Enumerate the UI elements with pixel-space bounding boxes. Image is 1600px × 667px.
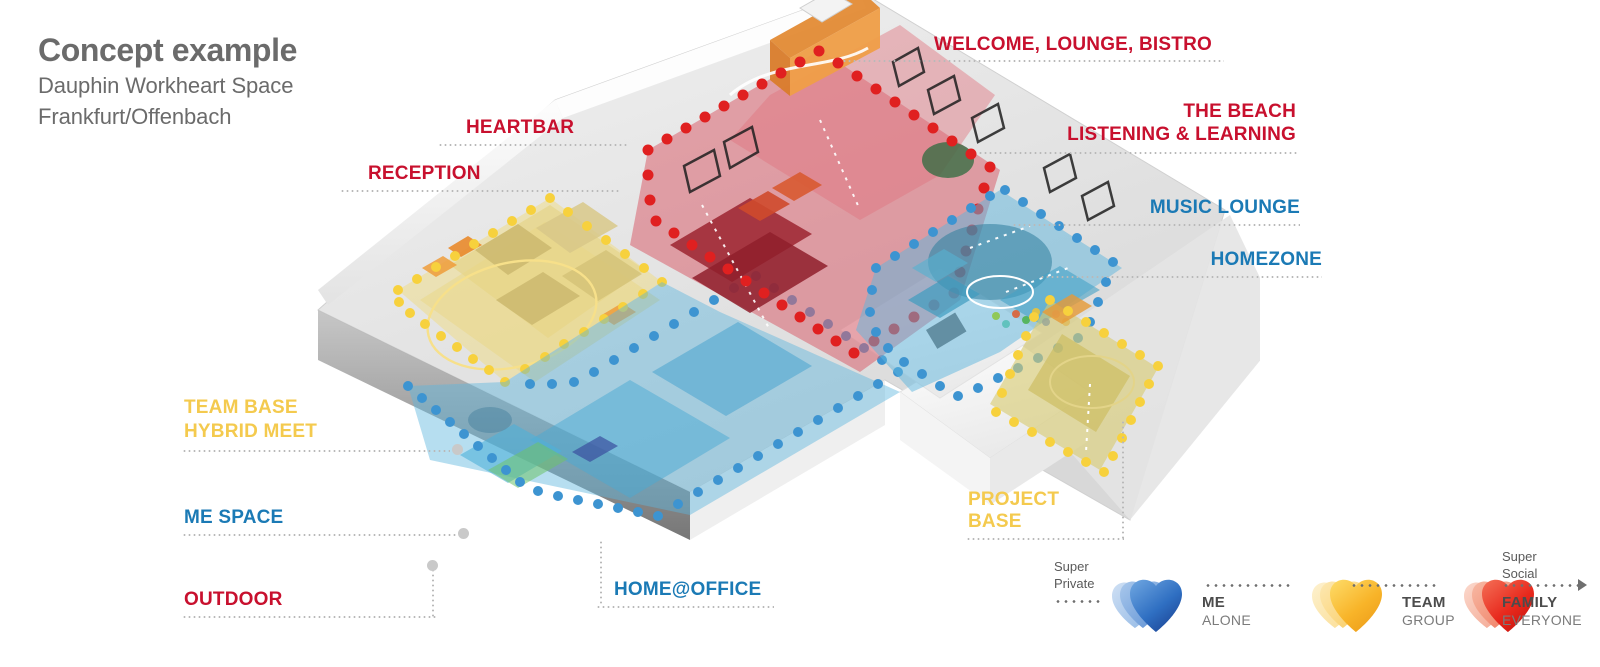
callout-listening-learning[interactable]: LISTENING & LEARNING	[1000, 123, 1296, 146]
leader-homezone	[1040, 276, 1322, 278]
callout-music-lounge[interactable]: MUSIC LOUNGE	[1090, 196, 1300, 219]
heart-icon-blue	[1102, 570, 1198, 642]
legend-right-end-line2: Social	[1502, 565, 1537, 582]
callout-me-space[interactable]: ME SPACE	[184, 506, 283, 529]
legend-dots-0	[1054, 600, 1102, 603]
floorplan-isometric-render	[300, 0, 1260, 640]
leader-reception	[340, 190, 620, 192]
leader-home-at-office-vertical	[600, 540, 602, 606]
leader-node-me-space	[458, 528, 469, 539]
legend-item-regular-family: EVERYONE	[1502, 612, 1582, 629]
callout-outdoor[interactable]: OUTDOOR	[184, 588, 283, 611]
legend-left-end-line1: Super	[1054, 558, 1094, 575]
leader-node-team-base	[452, 444, 463, 455]
leader-me-space	[182, 534, 464, 536]
callout-hybrid-meet[interactable]: HYBRID MEET	[184, 420, 317, 443]
leader-music-lounge	[1012, 224, 1300, 226]
leader-project-base	[966, 538, 1124, 540]
callout-welcome-lounge-bistro[interactable]: WELCOME, LOUNGE, BISTRO	[934, 33, 1212, 56]
privacy-social-legend: Super Private	[1050, 552, 1590, 657]
legend-dots-2	[1350, 584, 1440, 587]
callout-home-at-office[interactable]: HOME@OFFICE	[614, 578, 761, 601]
subtitle-line-2: Frankfurt/Offenbach	[38, 101, 297, 132]
callout-project-base[interactable]: PROJECT	[968, 488, 1059, 511]
leader-project-base-vertical	[1122, 420, 1124, 540]
leader-outdoor-vertical	[432, 568, 434, 618]
legend-item-bold-family: FAMILY	[1502, 594, 1582, 612]
legend-left-end-label: Super Private	[1054, 558, 1094, 592]
subtitle-line-1: Dauphin Workheart Space	[38, 70, 297, 101]
leader-team-base	[182, 450, 450, 452]
leader-welcome-lounge-bistro	[842, 60, 1224, 62]
callout-the-beach[interactable]: THE BEACH	[1062, 100, 1296, 123]
title-block: Concept example Dauphin Workheart Space …	[38, 30, 297, 132]
legend-arrow-icon	[1578, 579, 1587, 591]
legend-item-regular-me: ALONE	[1202, 612, 1251, 629]
leader-node-outdoor	[427, 560, 438, 571]
leader-heartbar	[438, 144, 628, 146]
legend-item-regular-team: GROUP	[1402, 612, 1455, 629]
leader-home-at-office	[596, 606, 774, 608]
legend-item-bold-me: ME	[1202, 594, 1251, 612]
page-title: Concept example	[38, 30, 297, 70]
legend-right-end-label: Super Social	[1502, 548, 1537, 582]
concept-example-slide: Concept example Dauphin Workheart Space …	[0, 0, 1600, 667]
legend-left-end-line2: Private	[1054, 575, 1094, 592]
legend-item-label-team: TEAM GROUP	[1402, 594, 1455, 629]
legend-item-bold-team: TEAM	[1402, 594, 1455, 612]
leader-the-beach	[978, 152, 1298, 154]
legend-item-label-family: FAMILY EVERYONE	[1502, 594, 1582, 629]
legend-item-label-me: ME ALONE	[1202, 594, 1251, 629]
callout-project-base-2[interactable]: BASE	[968, 510, 1022, 533]
heart-icon-yellow	[1302, 570, 1398, 642]
callout-heartbar[interactable]: HEARTBAR	[466, 116, 574, 139]
legend-dots-3	[1502, 584, 1578, 587]
legend-right-end-line1: Super	[1502, 548, 1537, 565]
callout-team-base[interactable]: TEAM BASE	[184, 396, 298, 419]
callout-reception[interactable]: RECEPTION	[368, 162, 481, 185]
legend-dots-1	[1204, 584, 1294, 587]
leader-outdoor	[182, 616, 436, 618]
callout-homezone[interactable]: HOMEZONE	[1150, 248, 1322, 271]
